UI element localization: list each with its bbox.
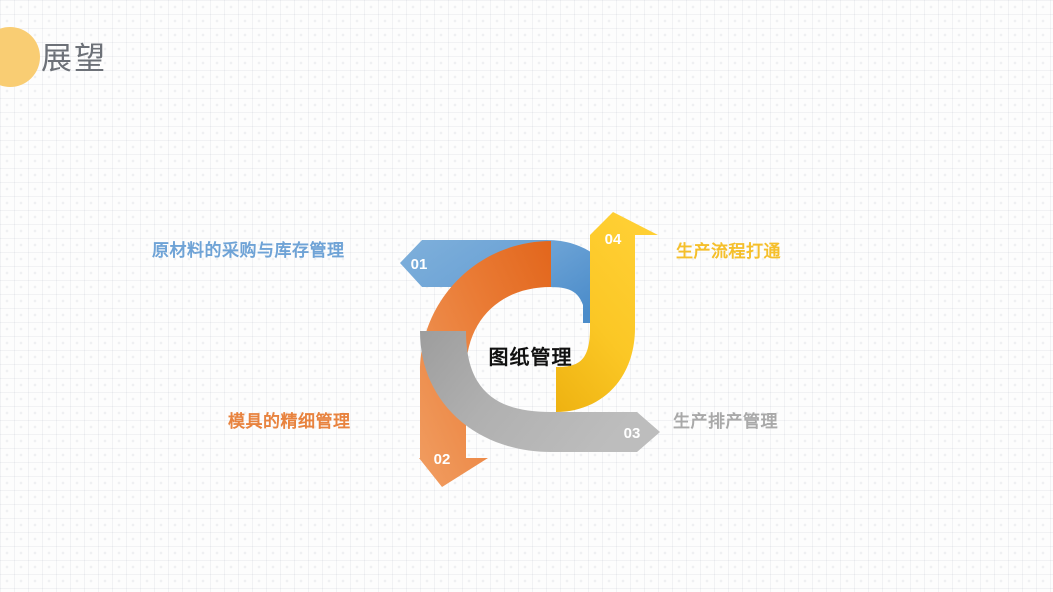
slide-canvas: 展望 (0, 0, 1053, 592)
callout-label-02: 模具的精细管理 (228, 407, 351, 432)
cycle-diagram-svg: 01 02 03 04 (0, 0, 1053, 592)
cycle-segment-04[interactable]: 04 (556, 212, 658, 412)
segment-01-shape (400, 240, 627, 323)
segment-04-number: 04 (605, 231, 622, 248)
cycle-segment-01[interactable]: 01 (400, 240, 627, 323)
segment-02-number: 02 (434, 451, 451, 468)
callout-label-04: 生产流程打通 (676, 237, 781, 262)
callout-label-01: 原材料的采购与库存管理 (152, 236, 345, 261)
diagram-center-label: 图纸管理 (443, 341, 618, 370)
decorative-circle (0, 27, 40, 87)
segment-03-number: 03 (624, 425, 641, 442)
cycle-diagram: 01 02 03 04 (0, 0, 1053, 592)
callout-label-03: 生产排产管理 (673, 407, 778, 432)
segment-04-shape (556, 212, 658, 412)
page-title: 展望 (41, 40, 107, 77)
segment-01-number: 01 (411, 256, 428, 273)
